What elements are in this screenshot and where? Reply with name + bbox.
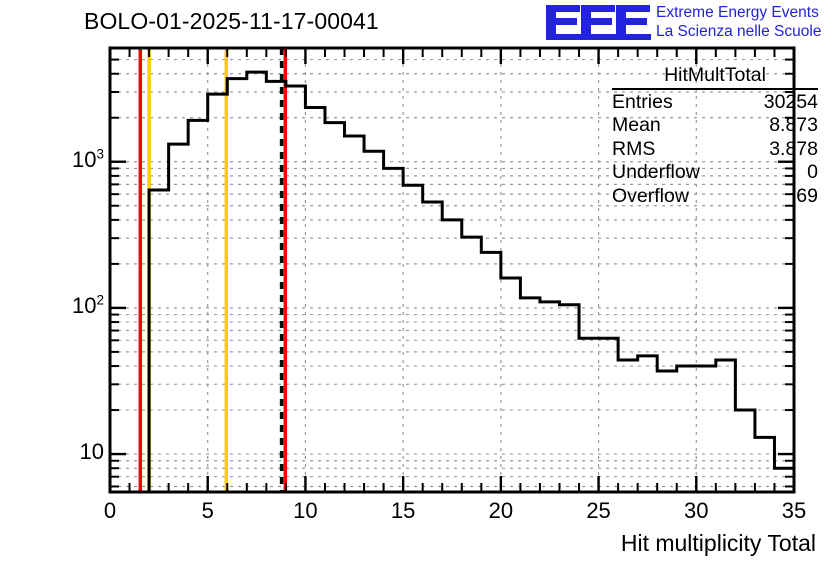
stats-row: Entries30254 [612,91,818,115]
x-tick-label: 0 [70,498,150,524]
x-axis-title: Hit multiplicity Total [621,530,816,557]
stats-row-key: Overflow [612,185,689,209]
stats-row: Underflow0 [612,161,818,185]
eee-logo: Extreme Energy Events La Scienza nelle S… [540,2,836,44]
stats-row-key: RMS [612,138,655,162]
x-tick-label: 10 [265,498,345,524]
x-tick-label: 15 [363,498,443,524]
stats-row-key: Underflow [612,161,700,185]
stats-row-value: 8.873 [769,114,818,138]
x-tick-label: 25 [559,498,639,524]
x-tick-label: 20 [461,498,541,524]
y-tick-label: 103 [20,147,104,173]
y-tick-label: 102 [20,293,104,319]
stats-row-key: Entries [612,91,673,115]
x-tick-label: 5 [168,498,248,524]
y-tick-label: 10 [20,439,104,465]
stats-row-key: Mean [612,114,661,138]
x-tick-label: 30 [656,498,736,524]
page-title: BOLO-01-2025-11-17-00041 [84,8,379,34]
stats-row: RMS3.878 [612,138,818,162]
stats-row-value: 0 [807,161,818,185]
stats-rows: Entries30254Mean8.873RMS3.878Underflow0O… [612,91,818,209]
stats-box: HitMultTotal Entries30254Mean8.873RMS3.8… [612,64,818,208]
stats-row-value: 30254 [764,91,818,115]
stats-title: HitMultTotal [612,64,818,90]
stats-row-value: 69 [796,185,818,209]
x-tick-label: 35 [754,498,834,524]
stats-row: Mean8.873 [612,114,818,138]
eee-logo-line2: La Scienza nelle Scuole [656,22,821,41]
eee-logo-line1: Extreme Energy Events [656,3,821,22]
eee-logo-text: Extreme Energy Events La Scienza nelle S… [656,3,821,41]
stats-row: Overflow69 [612,185,818,209]
eee-mark-icon [544,4,652,40]
stats-row-value: 3.878 [769,138,818,162]
